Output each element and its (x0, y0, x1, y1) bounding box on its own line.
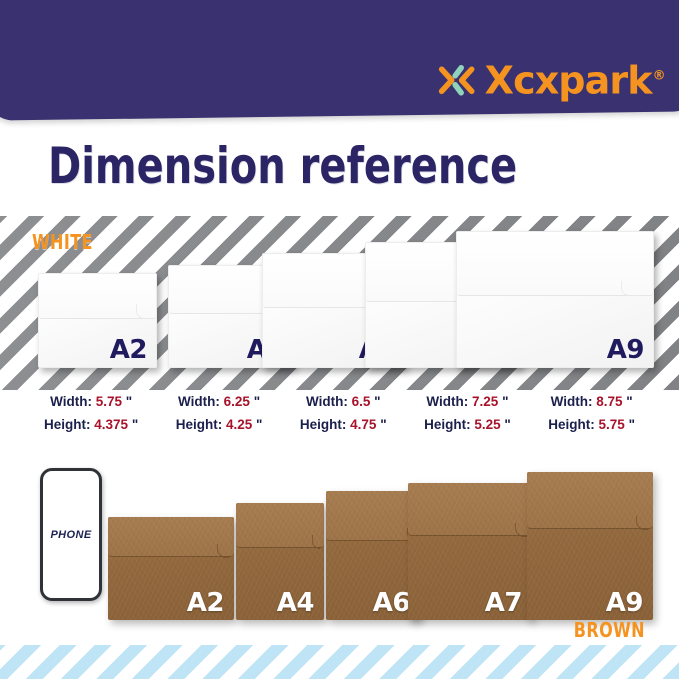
infographic-page: Xcxpark® Dimension reference WHITE A2 A4… (0, 0, 679, 679)
height-line: Height: 5.75 " (548, 415, 635, 435)
brand-name: Xcxpark® (485, 61, 665, 99)
height-unit: " (504, 417, 510, 432)
dimension-column-a7: Width: 7.25 " Height: 5.25 " (424, 392, 511, 444)
brown-envelope-a9: A9 (527, 472, 653, 620)
width-unit: " (502, 394, 508, 409)
height-line: Height: 4.375 " (44, 415, 138, 435)
brown-envelope-row: PHONE A2 A4 A6 A7 A9 (0, 455, 679, 630)
height-value: 5.75 (599, 417, 625, 432)
white-envelope-row: A2 A4 A6 A7 A9 (0, 216, 679, 390)
height-line: Height: 5.25 " (424, 415, 511, 435)
envelope-flap (236, 503, 324, 548)
dimension-column-a9: Width: 8.75 " Height: 5.75 " (548, 392, 635, 444)
width-line: Width: 6.25 " (178, 392, 260, 412)
brand-name-text: Xcxpark (485, 58, 652, 102)
envelope-size-label: A9 (607, 337, 644, 363)
width-label: Width: (50, 394, 92, 409)
height-value: 5.25 (474, 417, 500, 432)
envelope-size-label: A2 (187, 590, 224, 616)
envelope-flap (39, 274, 156, 319)
height-label: Height: (176, 417, 223, 432)
brown-section-label: BROWN (574, 618, 645, 642)
height-line: Height: 4.25 " (176, 415, 263, 435)
height-label: Height: (44, 417, 91, 432)
width-line: Width: 6.5 " (306, 392, 381, 412)
brown-envelope-a4: A4 (236, 503, 324, 620)
phone-size-reference: PHONE (40, 468, 102, 601)
envelope-flap (457, 232, 653, 296)
dimension-column-a6: Width: 6.5 " Height: 4.75 " (300, 392, 387, 444)
height-label: Height: (548, 417, 595, 432)
phone-label: PHONE (50, 529, 91, 541)
envelope-size-label: A2 (110, 337, 147, 363)
envelope-flap (326, 491, 420, 541)
width-value: 7.25 (472, 394, 498, 409)
height-unit: " (380, 417, 386, 432)
width-unit: " (626, 394, 632, 409)
envelope-flap (527, 472, 653, 529)
width-unit: " (254, 394, 260, 409)
width-label: Width: (426, 394, 468, 409)
height-unit: " (132, 417, 138, 432)
white-envelope-a9: A9 (456, 231, 654, 368)
envelope-size-label: A4 (277, 590, 314, 616)
width-label: Width: (178, 394, 220, 409)
header-banner: Xcxpark® (0, 0, 679, 121)
envelope-flap (108, 517, 234, 557)
footer-stripe-band (0, 645, 679, 679)
white-section-label: WHITE (32, 230, 93, 254)
width-line: Width: 5.75 " (50, 392, 132, 412)
width-line: Width: 8.75 " (551, 392, 633, 412)
brown-envelope-a7: A7 (408, 483, 532, 620)
height-line: Height: 4.75 " (300, 415, 387, 435)
dimension-column-a2: Width: 5.75 " Height: 4.375 " (44, 392, 138, 444)
dimension-table: Width: 5.75 " Height: 4.375 " Width: 6.2… (0, 392, 679, 444)
height-unit: " (629, 417, 635, 432)
width-value: 6.5 (352, 394, 371, 409)
height-value: 4.75 (350, 417, 376, 432)
x-chevron-logo-icon (438, 61, 476, 99)
width-value: 6.25 (224, 394, 250, 409)
brand-logo: Xcxpark® (438, 61, 665, 99)
brown-envelope-a6: A6 (326, 491, 420, 620)
envelope-flap (408, 483, 532, 536)
brown-envelope-a2: A2 (108, 517, 234, 620)
width-label: Width: (551, 394, 593, 409)
dimension-column-a4: Width: 6.25 " Height: 4.25 " (176, 392, 263, 444)
height-label: Height: (424, 417, 471, 432)
envelope-size-label: A6 (373, 590, 410, 616)
width-unit: " (374, 394, 380, 409)
height-unit: " (256, 417, 262, 432)
height-label: Height: (300, 417, 347, 432)
page-title: Dimension reference (48, 136, 517, 196)
registered-trademark-icon: ® (653, 69, 665, 84)
envelope-size-label: A9 (606, 590, 643, 616)
height-value: 4.375 (94, 417, 128, 432)
width-line: Width: 7.25 " (426, 392, 508, 412)
width-label: Width: (306, 394, 348, 409)
width-unit: " (126, 394, 132, 409)
height-value: 4.25 (226, 417, 252, 432)
width-value: 5.75 (96, 394, 122, 409)
width-value: 8.75 (596, 394, 622, 409)
white-envelope-a2: A2 (38, 273, 157, 368)
envelope-size-label: A7 (485, 590, 522, 616)
